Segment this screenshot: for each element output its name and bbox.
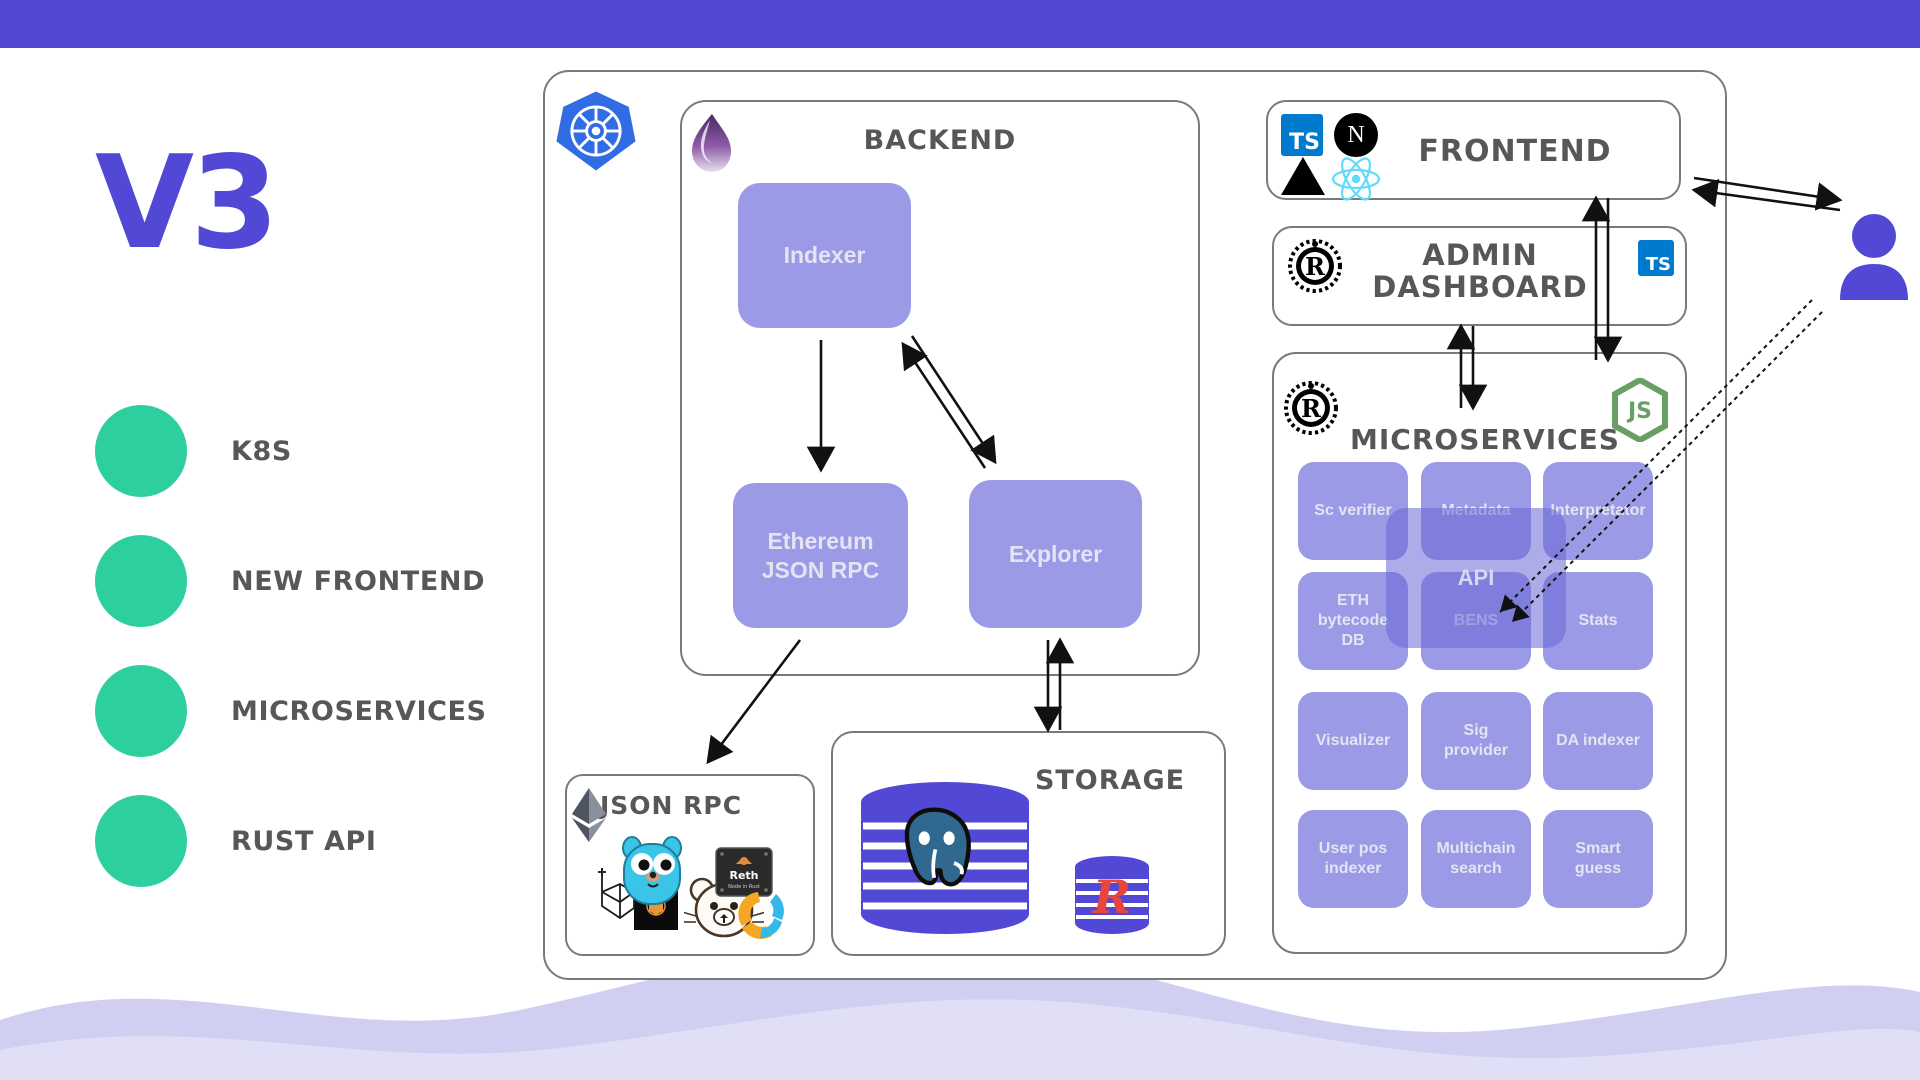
green-circle-icon [95,795,187,887]
multichain-line1: Multichain [1436,839,1515,859]
legend-item-microservices: MICROSERVICES [95,646,575,776]
eth-bytecode-line3: DB [1341,631,1364,651]
besu-swirl-icon [732,888,790,942]
svg-text:JS: JS [1626,399,1652,424]
microservice-tile-smart-guess[interactable]: Smart guess [1543,810,1653,908]
postgres-elephant-icon [857,780,1033,940]
api-overlay-label: API [1458,565,1495,591]
backend-service-explorer[interactable]: Explorer [969,480,1142,628]
sig-provider-line2: provider [1444,741,1508,761]
typescript-icon: TS [1638,240,1674,276]
rust-icon: R [1283,380,1339,436]
rust-icon: R [1287,238,1343,294]
legend-item-rust-api: RUST API [95,776,575,906]
admin-dashboard-title: ADMIN DASHBOARD [1330,240,1630,304]
user-pos-line2: indexer [1325,859,1382,879]
typescript-icon: TS [1281,114,1323,156]
legend-label: K8S [231,436,292,467]
user-pos-line1: User pos [1319,839,1387,859]
green-circle-icon [95,535,187,627]
react-icon [1330,156,1382,202]
reth-label: Reth [729,869,758,882]
microservice-tile-da-indexer[interactable]: DA indexer [1543,692,1653,790]
kubernetes-helm-icon [553,88,639,174]
api-overlay-group: API [1386,508,1566,648]
eth-rpc-line1: Ethereum [767,527,873,556]
sig-provider-line1: Sig [1464,721,1489,741]
eth-bytecode-line1: ETH [1337,591,1369,611]
legend-panel: V3 K8S NEW FRONTEND MICROSERVICES RUST A… [95,140,575,906]
legend-item-k8s: K8S [95,386,575,516]
backend-service-ethereum-json-rpc[interactable]: Ethereum JSON RPC [733,483,908,628]
microservice-tile-visualizer[interactable]: Visualizer [1298,692,1408,790]
microservice-tile-user-pos-indexer[interactable]: User pos indexer [1298,810,1408,908]
microservice-tile-sig-provider[interactable]: Sig provider [1421,692,1531,790]
legend-label: RUST API [231,826,377,857]
legend-label: NEW FRONTEND [231,566,485,597]
json-rpc-title: JSON RPC [600,792,810,820]
storage-title: STORAGE [1000,766,1220,796]
legend-item-new-frontend: NEW FRONTEND [95,516,575,646]
nextjs-letter: N [1347,122,1364,149]
legend-label: MICROSERVICES [231,696,487,727]
backend-title: BACKEND [780,126,1100,156]
geth-gopher-icon [616,832,688,908]
legend-list: K8S NEW FRONTEND MICROSERVICES RUST API [95,386,575,906]
smart-guess-line1: Smart [1575,839,1620,859]
elixir-drop-icon [688,112,734,174]
nextjs-icon: N [1334,113,1378,157]
multichain-line2: search [1450,859,1502,879]
backend-service-indexer[interactable]: Indexer [738,183,911,328]
ethereum-diamond-icon [570,786,608,844]
page-title: V3 [95,140,575,268]
svg-text:R: R [1301,394,1322,423]
admin-title-line2: DASHBOARD [1330,272,1630,304]
user-person-icon [1838,214,1910,300]
admin-title-line1: ADMIN [1330,240,1630,272]
svg-text:R: R [1091,870,1131,924]
frontend-title: FRONTEND [1370,135,1660,168]
smart-guess-line2: guess [1575,859,1621,879]
microservice-tile-multichain-search[interactable]: Multichain search [1421,810,1531,908]
eth-bytecode-line2: bytecode [1318,611,1388,631]
top-accent-bar [0,0,1920,48]
redis-icon: R [1073,855,1151,937]
vercel-icon [1281,157,1325,195]
green-circle-icon [95,665,187,757]
nodejs-icon: JS [1611,378,1669,442]
eth-rpc-line2: JSON RPC [762,556,880,585]
green-circle-icon [95,405,187,497]
svg-text:R: R [1305,252,1326,281]
